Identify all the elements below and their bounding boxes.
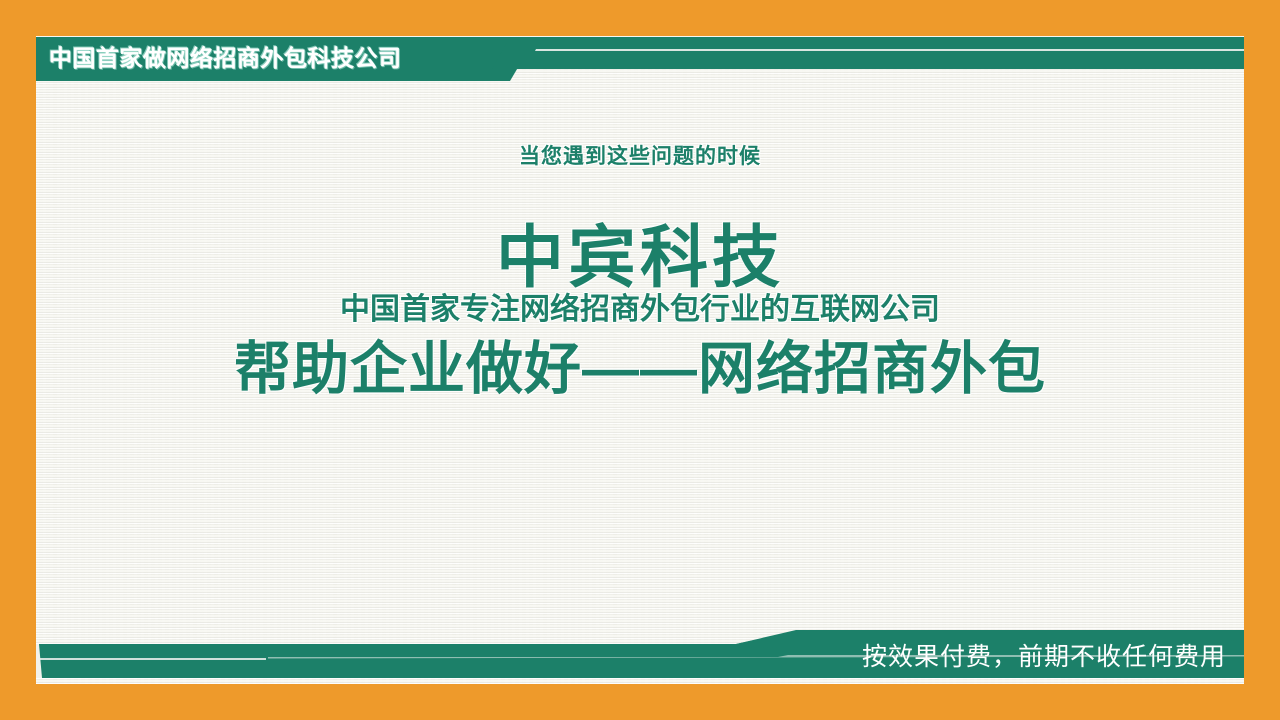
slide-canvas: 中国首家做网络招商外包科技公司 当您遇到这些问题的时候 中宾科技 中国首家专注网… [36, 36, 1244, 684]
footer-ribbon: 按效果付费，前期不收任何费用 [36, 626, 1244, 684]
eyebrow-text: 当您遇到这些问题的时候 [36, 142, 1244, 172]
header-ribbon-label: 中国首家做网络招商外包科技公司 [49, 43, 402, 73]
header-ribbon: 中国首家做网络招商外包科技公司 [36, 37, 1244, 81]
headline-block: 当您遇到这些问题的时候 中宾科技 中国首家专注网络招商外包行业的互联网公司 帮助… [36, 142, 1244, 404]
brand-title: 中宾科技 [36, 220, 1244, 296]
footer-ribbon-shape [36, 626, 1244, 684]
promise-headline: 帮助企业做好——网络招商外包 [36, 334, 1244, 404]
brand-tagline: 中国首家专注网络招商外包行业的互联网公司 [36, 290, 1244, 330]
header-ribbon-shape [36, 37, 1244, 85]
footer-ribbon-label: 按效果付费，前期不收任何费用 [862, 640, 1226, 674]
slide-root: 中国首家做网络招商外包科技公司 当您遇到这些问题的时候 中宾科技 中国首家专注网… [0, 0, 1280, 720]
